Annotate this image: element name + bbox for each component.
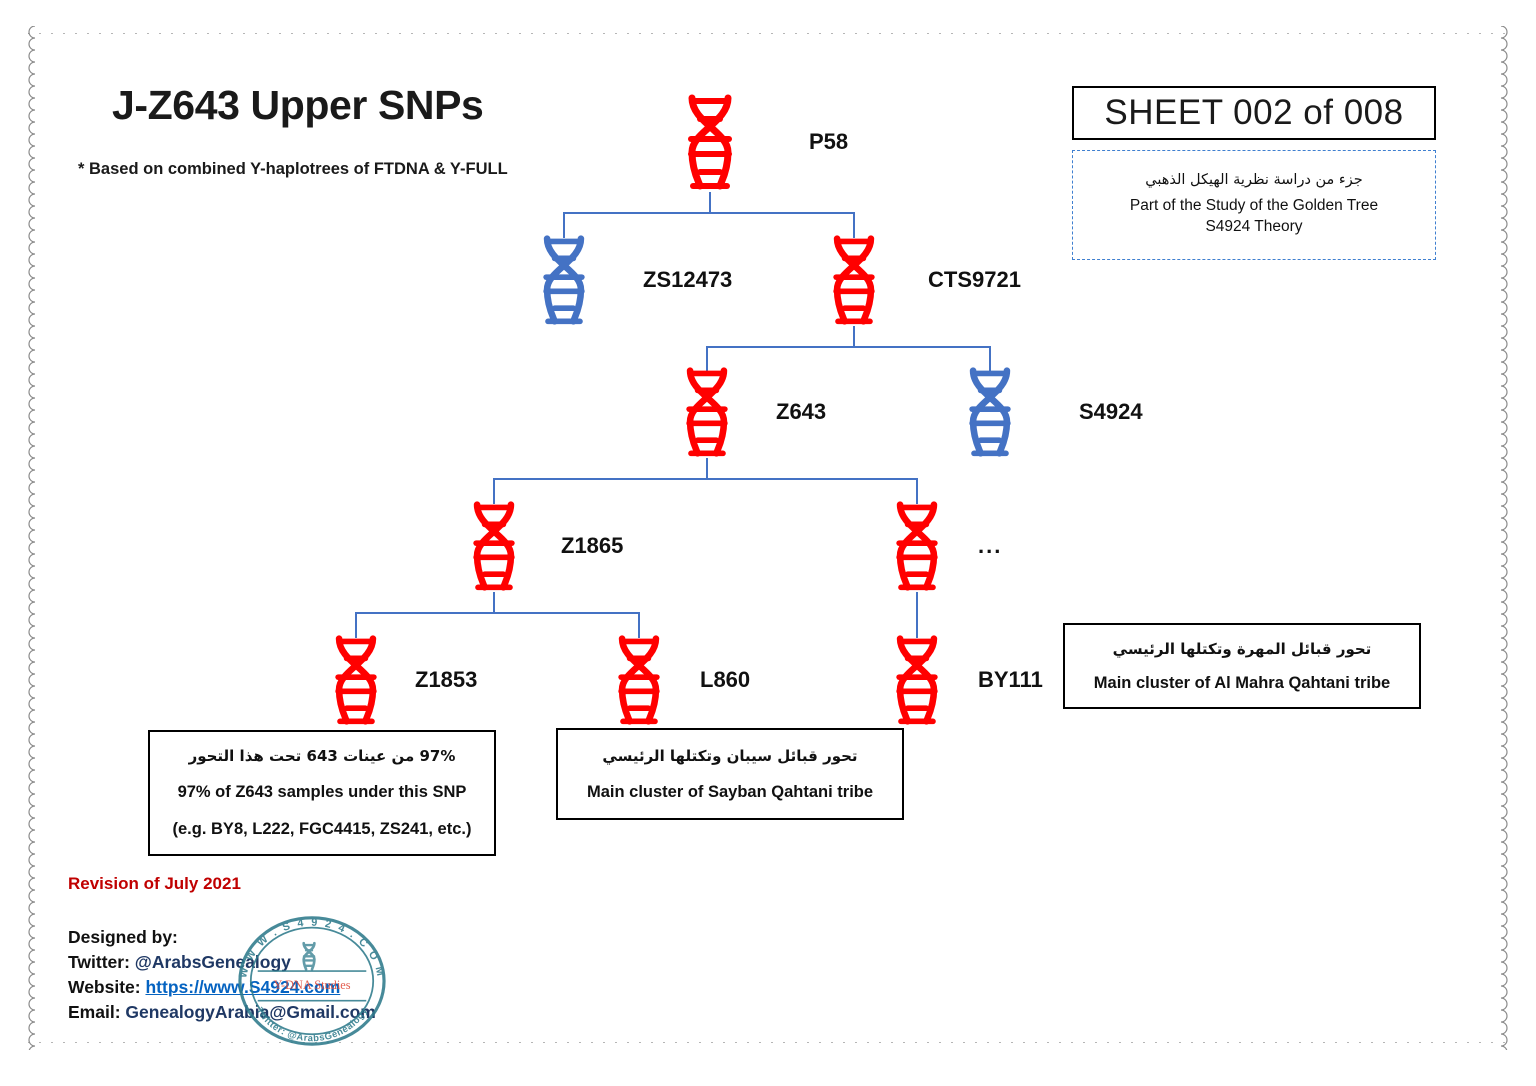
node-label-z1865: Z1865: [561, 533, 623, 559]
node-zs12473[interactable]: ZS12473: [533, 233, 595, 327]
diagram-sheet: J-Z643 Upper SNPs * Based on combined Y-…: [0, 0, 1536, 1086]
note-box-z1853: 97% من عينات 643 تحت هذا التحور 97% of Z…: [148, 730, 496, 856]
connector-z643-bar: [493, 478, 918, 480]
sheet-number-box: SHEET 002 of 008: [1072, 86, 1436, 140]
note-l860-arabic: تحور قبائل سيبان وتكتلها الرئيسي: [602, 747, 857, 765]
node-p58[interactable]: P58: [679, 92, 741, 192]
connector-z1865-bar: [355, 612, 638, 614]
node-by111[interactable]: BY111: [886, 633, 948, 727]
dna-helix-icon: [959, 365, 1021, 459]
node-z643[interactable]: Z643: [676, 365, 738, 459]
node-label-ellipsis: ...: [978, 533, 1002, 559]
sheet-number-label: SHEET 002 of 008: [1104, 93, 1403, 133]
connector-cts9721-stem: [853, 326, 855, 348]
website-label: Website:: [68, 977, 145, 997]
node-label-cts9721: CTS9721: [928, 267, 1021, 293]
page-title: J-Z643 Upper SNPs: [112, 82, 483, 129]
watermark-stamp: W W W . S 4 9 2 4 . C O M Twitter: @Arab…: [228, 902, 396, 1054]
note-by111-arabic: تحور قبائل المهرة وتكتلها الرئيسي: [1113, 640, 1372, 658]
note-z1853-examples: (e.g. BY8, L222, FGC4415, ZS241, etc.): [173, 820, 472, 839]
dna-helix-icon: [886, 499, 948, 593]
stamp-dna-icon: [304, 943, 315, 969]
revision-label: Revision of July 2021: [68, 874, 241, 894]
twitter-label: Twitter:: [68, 952, 135, 972]
study-note-english-line1: Part of the Study of the Golden Tree: [1130, 196, 1378, 217]
dna-helix-icon: [608, 633, 670, 727]
connector-p58-stem: [709, 192, 711, 214]
note-z1853-arabic: 97% من عينات 643 تحت هذا التحور: [189, 747, 456, 765]
dna-helix-icon: [679, 92, 741, 192]
study-note-box: جزء من دراسة نظرية الهيكل الذهبي Part of…: [1072, 150, 1436, 260]
node-label-zs12473: ZS12473: [643, 267, 732, 293]
note-box-by111: تحور قبائل المهرة وتكتلها الرئيسي Main c…: [1063, 623, 1421, 709]
note-z1853-english: 97% of Z643 samples under this SNP: [178, 783, 467, 802]
note-by111-english: Main cluster of Al Mahra Qahtani tribe: [1094, 674, 1390, 693]
connector-z643-stem: [706, 458, 708, 480]
stamp-bottom-text: Twitter: @ArabsGenealogy: [255, 1006, 370, 1044]
dna-helix-icon: [325, 633, 387, 727]
connector-cts9721-bar: [706, 346, 991, 348]
note-l860-english: Main cluster of Sayban Qahtani tribe: [587, 783, 873, 802]
node-label-z1853: Z1853: [415, 667, 477, 693]
node-l860[interactable]: L860: [608, 633, 670, 727]
connector-p58-bar: [563, 212, 855, 214]
note-box-l860: تحور قبائل سيبان وتكتلها الرئيسي Main cl…: [556, 728, 904, 820]
node-label-by111: BY111: [978, 667, 1043, 693]
stamp-center-text: Y-DNA Studies: [273, 978, 350, 992]
node-cts9721[interactable]: CTS9721: [823, 233, 885, 327]
node-label-p58: P58: [809, 129, 848, 155]
email-label: Email:: [68, 1002, 125, 1022]
node-ellipsis[interactable]: ...: [886, 499, 948, 593]
connector-z1865-stem: [493, 592, 495, 614]
node-z1865[interactable]: Z1865: [463, 499, 525, 593]
node-s4924[interactable]: S4924: [959, 365, 1021, 459]
node-label-z643: Z643: [776, 399, 826, 425]
node-z1853[interactable]: Z1853: [325, 633, 387, 727]
dna-helix-icon: [463, 499, 525, 593]
study-note-arabic: جزء من دراسة نظرية الهيكل الذهبي: [1145, 172, 1362, 188]
dna-helix-icon: [533, 233, 595, 327]
node-label-s4924: S4924: [1079, 399, 1143, 425]
dna-helix-icon: [676, 365, 738, 459]
dna-helix-icon: [823, 233, 885, 327]
study-note-english-line2: S4924 Theory: [1130, 217, 1378, 238]
node-label-l860: L860: [700, 667, 750, 693]
page-subtitle: * Based on combined Y-haplotrees of FTDN…: [78, 160, 508, 179]
dna-helix-icon: [886, 633, 948, 727]
connector-ellipsis-to-by111: [916, 592, 918, 638]
